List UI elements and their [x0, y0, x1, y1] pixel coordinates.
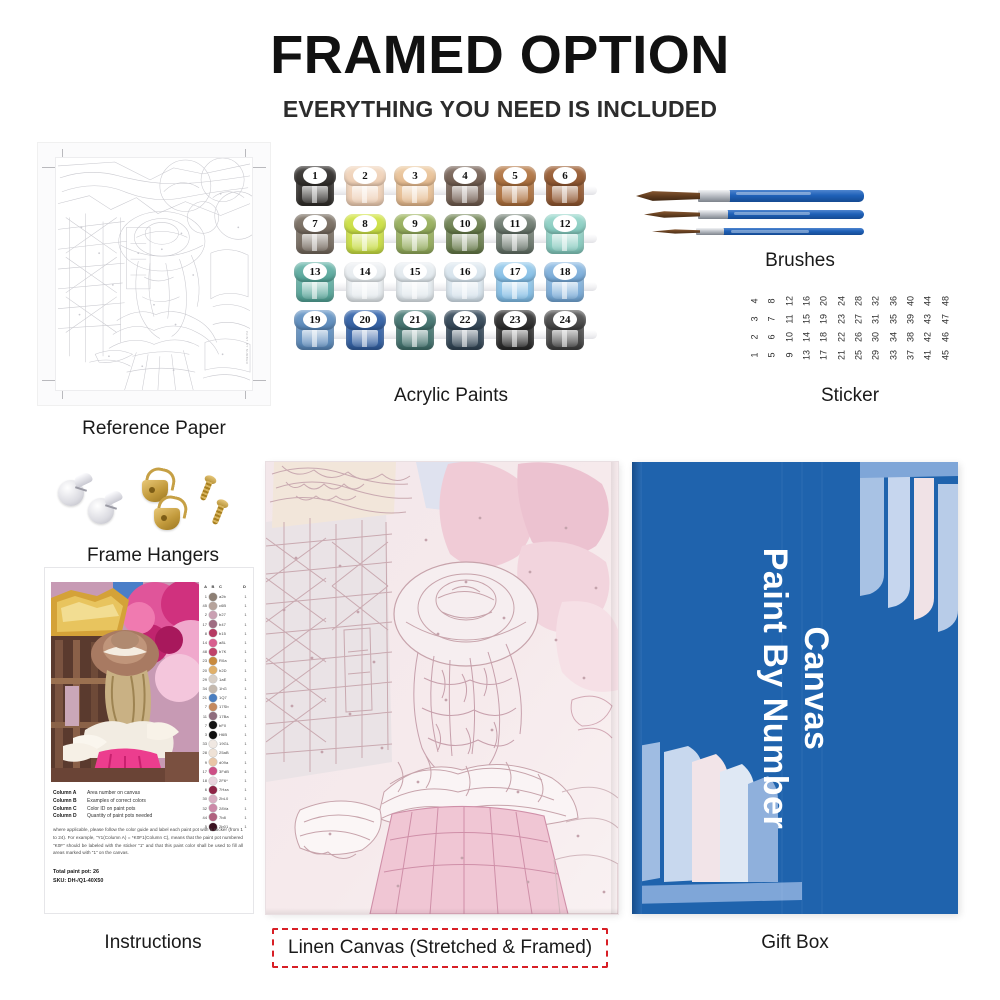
- legend-qty: 1: [243, 796, 248, 801]
- paint-pot-gloss: [452, 234, 478, 251]
- sticker-number-31: 31: [867, 310, 885, 327]
- linen-canvas: [266, 462, 618, 914]
- sticker-number-26: 26: [850, 328, 868, 345]
- legend-qty: 1: [243, 741, 248, 746]
- instructions-column-row: Column BExamples of correct colors: [53, 798, 243, 806]
- legend-swatch: [209, 703, 217, 711]
- sticker-number-48: 48: [936, 292, 954, 309]
- paint-pot-number: 13: [303, 263, 327, 280]
- legend-swatch: [209, 758, 217, 766]
- paint-pot-number: 7: [303, 215, 327, 232]
- legend-qty: 1: [243, 723, 248, 728]
- sticker-number-20: 20: [815, 292, 833, 309]
- sticker-number-4: 4: [746, 292, 764, 309]
- sticker-number-12: 12: [780, 292, 798, 309]
- legend-swatch: [209, 639, 217, 647]
- legend-swatch: [209, 657, 217, 665]
- legend-row: 8b151: [200, 629, 248, 638]
- instructions-body-text: where applicable, please follow the colo…: [53, 826, 243, 857]
- paint-pot-11: 11: [493, 214, 537, 258]
- brush-medium: [644, 210, 864, 219]
- legend-code: 2F6*: [219, 778, 241, 783]
- sticker-number-9: 9: [780, 346, 798, 363]
- legend-row: 211Q71: [200, 693, 248, 702]
- legend-index: 29: [200, 677, 207, 682]
- instructions-artwork-preview: [51, 582, 199, 782]
- legend-swatch: [209, 629, 217, 637]
- legend-code: bF0: [219, 723, 241, 728]
- legend-swatch: [209, 611, 217, 619]
- sticker-number-41: 41: [919, 346, 937, 363]
- legend-qty: 1: [243, 668, 248, 673]
- legend-swatch: [209, 666, 217, 674]
- paint-pot-12: 12: [543, 214, 587, 258]
- legend-row: 9d09a1: [200, 758, 248, 767]
- legend-qty: 1: [243, 622, 248, 627]
- canvas-bottom-edge: [266, 908, 618, 914]
- legend-row: 341hG1: [200, 684, 248, 693]
- sticker-number-29: 29: [867, 346, 885, 363]
- d-ring-hanger: [154, 496, 188, 534]
- paint-pot-gloss: [302, 282, 328, 299]
- legend-code: c6B: [219, 603, 241, 608]
- sticker-number-33: 33: [884, 346, 902, 363]
- legend-row: 7bF01: [200, 721, 248, 730]
- sticker-number-1: 1: [746, 346, 764, 363]
- legend-row: 14a8L1: [200, 638, 248, 647]
- caption-acrylic-paints: Acrylic Paints: [293, 385, 609, 407]
- sticker-number-13: 13: [798, 346, 816, 363]
- legend-swatch: [209, 602, 217, 610]
- product-infographic: FRAMED OPTION EVERYTHING YOU NEED IS INC…: [0, 0, 1000, 1000]
- sticker-number-3: 3: [746, 310, 764, 327]
- legend-qty: 1: [243, 649, 248, 654]
- sticker-number-21: 21: [832, 346, 850, 363]
- page-subtitle: EVERYTHING YOU NEED IS INCLUDED: [0, 96, 1000, 123]
- sticker-number-35: 35: [884, 310, 902, 327]
- legend-code: 3FdB: [219, 769, 241, 774]
- legend-row: 3319GL1: [200, 739, 248, 748]
- legend-index: 20: [200, 668, 207, 673]
- sticker-number-11: 11: [780, 310, 798, 327]
- paint-pot-gloss: [502, 186, 528, 203]
- legend-row: 23R0a1: [200, 656, 248, 665]
- legend-swatch: [209, 777, 217, 785]
- paint-pot-gloss: [402, 234, 428, 251]
- brush-small: [652, 228, 864, 235]
- paint-pot-number: 12: [553, 215, 577, 232]
- legend-header: A B C D: [200, 582, 248, 591]
- caption-gift-box: Gift Box: [632, 932, 958, 954]
- legend-row: 3H6B1: [200, 730, 248, 739]
- sticker-number-18: 18: [815, 328, 833, 345]
- paint-pot-number: 21: [403, 311, 427, 328]
- paint-pot-gloss: [402, 282, 428, 299]
- legend-code: a8L: [219, 640, 241, 645]
- paint-pot-18: 18: [543, 262, 587, 306]
- paint-pot-21: 21: [393, 310, 437, 354]
- legend-swatch: [209, 767, 217, 775]
- instructions-column-desc: Area number on canvas: [87, 790, 140, 798]
- legend-index: 7: [200, 723, 207, 728]
- paint-pot-gloss: [352, 282, 378, 299]
- legend-row: 45c6B1: [200, 601, 248, 610]
- paint-pot-24: 24: [543, 310, 587, 354]
- legend-qty: 1: [243, 658, 248, 663]
- frame-hangers-group: [58, 466, 248, 538]
- gift-box-label: Canvas Paint By Number: [632, 462, 958, 914]
- legend-swatch: [209, 740, 217, 748]
- legend-index: 18: [200, 778, 207, 783]
- sticker-sheet: 4812162024283236404448371115192327313539…: [746, 292, 954, 364]
- legend-row: 1117Ba1: [200, 712, 248, 721]
- sticker-number-19: 19: [815, 310, 833, 327]
- paint-pot-gloss: [302, 330, 328, 347]
- legend-index: 7: [200, 704, 207, 709]
- sticker-number-39: 39: [902, 310, 920, 327]
- legend-qty: 1: [243, 815, 248, 820]
- sticker-number-25: 25: [850, 346, 868, 363]
- instructions-column-label: Column B: [53, 798, 87, 806]
- legend-swatch: [209, 648, 217, 656]
- sticker-number-38: 38: [902, 328, 920, 345]
- brushes-group: [636, 170, 936, 260]
- instructions-column-desc: Color ID on paint pots: [87, 806, 135, 814]
- paint-pot-gloss: [352, 186, 378, 203]
- paint-pot-9: 9: [393, 214, 437, 258]
- paint-pot-23: 23: [493, 310, 537, 354]
- paint-pot-17: 17: [493, 262, 537, 306]
- instructions-column-row: Column CColor ID on paint pots: [53, 806, 243, 814]
- legend-index: 3: [200, 732, 207, 737]
- paint-pot-number: 18: [553, 263, 577, 280]
- legend-code: 1aE: [219, 677, 241, 682]
- sticker-number-22: 22: [832, 328, 850, 345]
- legend-index: 8: [200, 631, 207, 636]
- paint-pot-4: 4: [443, 166, 487, 210]
- legend-qty: 1: [243, 760, 248, 765]
- paint-pot-number: 14: [353, 263, 377, 280]
- legend-index: 2: [200, 612, 207, 617]
- legend-code: 17Ba: [219, 714, 241, 719]
- legend-qty: 1: [243, 769, 248, 774]
- legend-index: 34: [200, 686, 207, 691]
- sticker-number-5: 5: [763, 346, 781, 363]
- legend-index: 23: [200, 658, 207, 663]
- paint-pot-22: 22: [443, 310, 487, 354]
- paint-pot-gloss: [502, 234, 528, 251]
- legend-code: R0a: [219, 658, 241, 663]
- instructions-column-row: Column DQuantity of paint pots needed: [53, 813, 243, 821]
- wall-hook: [88, 490, 128, 530]
- legend-index: 45: [200, 603, 207, 608]
- paint-pot-number: 17: [503, 263, 527, 280]
- legend-row: 17b471: [200, 620, 248, 629]
- legend-index: 1: [200, 594, 207, 599]
- paint-pot-10: 10: [443, 214, 487, 258]
- legend-index: 17: [200, 769, 207, 774]
- legend-row: 2825aB1: [200, 748, 248, 757]
- paint-pot-gloss: [352, 234, 378, 251]
- legend-code: b15: [219, 631, 241, 636]
- legend-row: 1a2b1: [200, 592, 248, 601]
- legend-swatch: [209, 712, 217, 720]
- paint-pot-number: 20: [353, 311, 377, 328]
- gift-box: Canvas Paint By Number: [632, 462, 958, 914]
- paint-pot-number: 6: [553, 167, 577, 184]
- sticker-number-23: 23: [832, 310, 850, 327]
- legend-qty: 1: [243, 603, 248, 608]
- sticker-number-6: 6: [763, 328, 781, 345]
- sticker-number-28: 28: [850, 292, 868, 309]
- sticker-number-45: 45: [936, 346, 954, 363]
- paint-pot-gloss: [452, 186, 478, 203]
- legend-qty: 1: [243, 778, 248, 783]
- paint-pot-14: 14: [343, 262, 387, 306]
- legend-swatch: [209, 721, 217, 729]
- canvas-side-edge: [611, 462, 618, 914]
- gift-box-line2: Paint By Number: [754, 547, 795, 828]
- instructions-footer: Total paint pot: 26 SKU: DH-/Q1-40X50: [53, 868, 243, 887]
- paint-pot-number: 16: [453, 263, 477, 280]
- paint-pot-gloss: [552, 186, 578, 203]
- legend-row: 717Sb1: [200, 702, 248, 711]
- paint-pot-15: 15: [393, 262, 437, 306]
- legend-index: 9: [200, 760, 207, 765]
- sticker-number-16: 16: [798, 292, 816, 309]
- paint-pot-number: 24: [553, 311, 577, 328]
- paint-pot-number: 2: [353, 167, 377, 184]
- instructions-column-label: Column A: [53, 790, 87, 798]
- legend-swatch: [209, 749, 217, 757]
- instructions-sheet: A B C D 1a2b145c6B12b27117b4718b15114a8L…: [45, 568, 253, 913]
- legend-code: b47: [219, 622, 241, 627]
- legend-code: b7K: [219, 649, 241, 654]
- legend-row: 2b271: [200, 610, 248, 619]
- paint-pot-gloss: [552, 330, 578, 347]
- paint-pot-number: 22: [453, 311, 477, 328]
- legend-swatch: [209, 593, 217, 601]
- paint-pot-gloss: [302, 186, 328, 203]
- legend-swatch: [209, 731, 217, 739]
- reference-lineart: PAINT BY NUMBER: [55, 157, 253, 391]
- sticker-number-8: 8: [763, 292, 781, 309]
- legend-code: 1Q7: [219, 695, 241, 700]
- legend-code: 1hG: [219, 686, 241, 691]
- legend-swatch: [209, 620, 217, 628]
- paint-pot-number: 5: [503, 167, 527, 184]
- legend-qty: 1: [243, 787, 248, 792]
- legend-qty: 1: [243, 640, 248, 645]
- screw: [199, 475, 216, 502]
- legend-row: 48b7K1: [200, 647, 248, 656]
- paint-pot-16: 16: [443, 262, 487, 306]
- legend-qty: 1: [243, 631, 248, 636]
- instructions-column-row: Column AArea number on canvas: [53, 790, 243, 798]
- legend-row: 20h2D1: [200, 666, 248, 675]
- paint-pot-13: 13: [293, 262, 337, 306]
- paint-pot-gloss: [502, 282, 528, 299]
- legend-code: d09a: [219, 760, 241, 765]
- paint-pot-gloss: [402, 330, 428, 347]
- gift-box-line1: Canvas: [795, 547, 836, 828]
- legend-code: H6B: [219, 732, 241, 737]
- legend-qty: 1: [243, 695, 248, 700]
- legend-code: b27: [219, 612, 241, 617]
- legend-row: 182F6*1: [200, 776, 248, 785]
- paint-pot-number: 11: [503, 215, 527, 232]
- legend-index: 14: [200, 640, 207, 645]
- paint-pot-gloss: [552, 282, 578, 299]
- reference-paper: PAINT BY NUMBER: [38, 143, 270, 405]
- instructions-column-desc: Examples of correct colors: [87, 798, 146, 806]
- legend-index: 33: [200, 741, 207, 746]
- screw: [211, 499, 228, 526]
- legend-index: 48: [200, 649, 207, 654]
- paint-pot-7: 7: [293, 214, 337, 258]
- legend-qty: 1: [243, 686, 248, 691]
- sticker-number-34: 34: [884, 328, 902, 345]
- caption-sticker: Sticker: [746, 385, 954, 407]
- total-paint-pots: Total paint pot: 26: [53, 868, 243, 877]
- sticker-number-14: 14: [798, 328, 816, 345]
- legend-index: 28: [200, 750, 207, 755]
- sticker-number-37: 37: [902, 346, 920, 363]
- paint-pot-3: 3: [393, 166, 437, 210]
- legend-qty: 1: [243, 824, 248, 829]
- paint-pot-gloss: [452, 330, 478, 347]
- legend-swatch: [209, 694, 217, 702]
- legend-qty: 1: [243, 612, 248, 617]
- page-title: FRAMED OPTION: [0, 28, 1000, 82]
- sticker-number-40: 40: [902, 292, 920, 309]
- paint-pot-gloss: [552, 234, 578, 251]
- sku-text: SKU: DH-/Q1-40X50: [53, 877, 243, 886]
- legend-code: a2b: [219, 594, 241, 599]
- paint-pot-19: 19: [293, 310, 337, 354]
- sticker-number-46: 46: [936, 328, 954, 345]
- paint-pot-5: 5: [493, 166, 537, 210]
- paint-pot-number: 1: [303, 167, 327, 184]
- sticker-number-32: 32: [867, 292, 885, 309]
- caption-brushes: Brushes: [700, 250, 900, 272]
- instructions-column-desc: Quantity of paint pots needed: [87, 813, 152, 821]
- legend-swatch: [209, 675, 217, 683]
- sticker-number-27: 27: [850, 310, 868, 327]
- legend-qty: 1: [243, 677, 248, 682]
- sticker-number-24: 24: [832, 292, 850, 309]
- sticker-number-30: 30: [867, 328, 885, 345]
- caption-linen-canvas: Linen Canvas (Stretched & Framed): [272, 928, 608, 968]
- legend-index: 17: [200, 622, 207, 627]
- caption-instructions: Instructions: [38, 932, 268, 954]
- sticker-number-42: 42: [919, 328, 937, 345]
- sticker-number-2: 2: [746, 328, 764, 345]
- legend-qty: 1: [243, 714, 248, 719]
- paint-pot-gloss: [302, 234, 328, 251]
- legend-index: 11: [200, 714, 207, 719]
- paint-pot-number: 4: [453, 167, 477, 184]
- paint-pot-number: 23: [503, 311, 527, 328]
- sticker-number-15: 15: [798, 310, 816, 327]
- legend-code: 19GL: [219, 741, 241, 746]
- instructions-column-label: Column D: [53, 813, 87, 821]
- sticker-number-43: 43: [919, 310, 937, 327]
- caption-frame-hangers: Frame Hangers: [38, 545, 268, 567]
- legend-code: 17Sb: [219, 704, 241, 709]
- paint-pot-gloss: [352, 330, 378, 347]
- legend-qty: 1: [243, 594, 248, 599]
- caption-reference-paper: Reference Paper: [38, 418, 270, 440]
- sticker-number-44: 44: [919, 292, 937, 309]
- legend-row: 173FdB1: [200, 767, 248, 776]
- paint-pot-number: 19: [303, 311, 327, 328]
- brush-large: [636, 190, 864, 202]
- instructions-column-label: Column C: [53, 806, 87, 814]
- legend-swatch: [209, 685, 217, 693]
- paint-pot-number: 9: [403, 215, 427, 232]
- acrylic-paints-group: 123456 789101112 131415161718 1920212223…: [293, 166, 609, 362]
- paint-pot-2: 2: [343, 166, 387, 210]
- sticker-number-36: 36: [884, 292, 902, 309]
- legend-qty: 1: [243, 750, 248, 755]
- paint-pot-number: 15: [403, 263, 427, 280]
- legend-qty: 1: [243, 732, 248, 737]
- legend-code: h2D: [219, 668, 241, 673]
- paint-pot-20: 20: [343, 310, 387, 354]
- instructions-column-key: Column AArea number on canvasColumn BExa…: [53, 790, 243, 821]
- legend-index: 21: [200, 695, 207, 700]
- legend-row: 291aE1: [200, 675, 248, 684]
- paint-pot-1: 1: [293, 166, 337, 210]
- legend-qty: 1: [243, 704, 248, 709]
- legend-code: 25aB: [219, 750, 241, 755]
- sticker-number-47: 47: [936, 310, 954, 327]
- paint-pot-number: 3: [403, 167, 427, 184]
- sticker-number-10: 10: [780, 328, 798, 345]
- sticker-number-17: 17: [815, 346, 833, 363]
- paint-pot-gloss: [452, 282, 478, 299]
- paint-pot-8: 8: [343, 214, 387, 258]
- legend-qty: 1: [243, 806, 248, 811]
- paint-pot-number: 8: [353, 215, 377, 232]
- sticker-number-7: 7: [763, 310, 781, 327]
- paint-pot-number: 10: [453, 215, 477, 232]
- paint-pot-gloss: [502, 330, 528, 347]
- paint-pot-gloss: [402, 186, 428, 203]
- paint-pot-6: 6: [543, 166, 587, 210]
- reference-watermark: PAINT BY NUMBER: [245, 331, 249, 364]
